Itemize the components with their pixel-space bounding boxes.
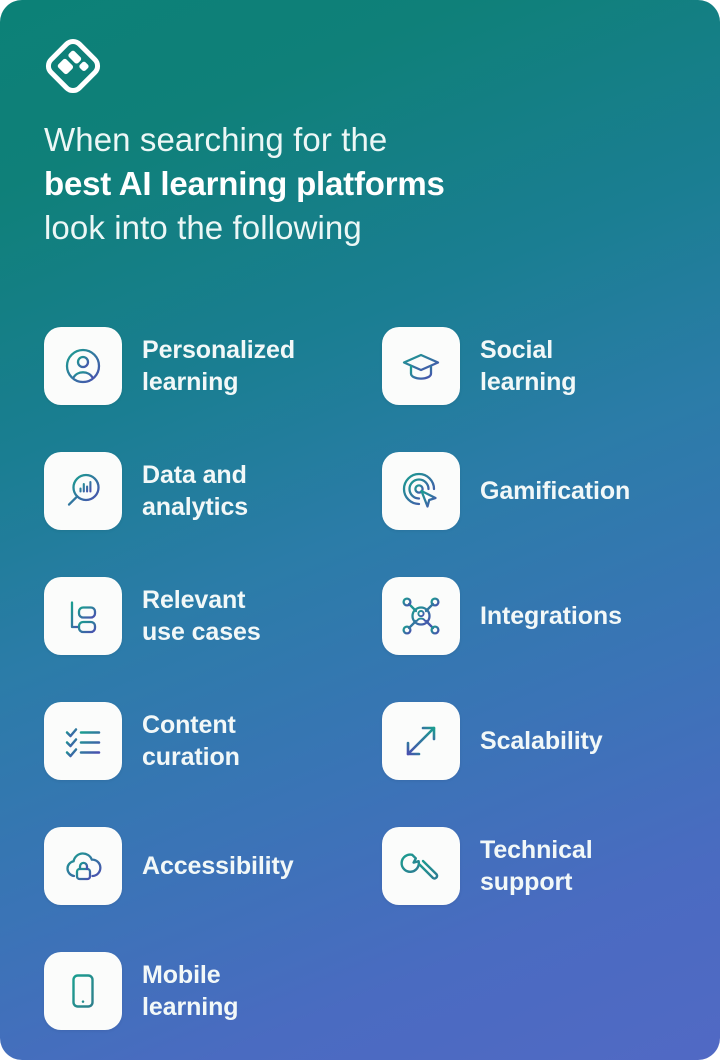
feature-label-line-1: Scalability [480,727,603,755]
heading-line-2: best AI learning platforms [44,162,664,206]
heading-line-1: When searching for the [44,118,664,162]
page-title: When searching for the best AI learning … [44,118,664,250]
feature-label: Integrations [480,600,622,632]
feature-icon-tile [382,702,460,780]
cloud-lock-icon [61,844,105,888]
expand-diagonal-arrows-icon [399,719,443,763]
feature-grid: Personalized learning Social learning [44,303,684,1053]
feature-label: Gamification [480,475,630,507]
feature-label-line-2: support [480,866,593,898]
user-circle-icon [61,344,105,388]
target-cursor-icon [399,469,443,513]
heading-line-3: look into the following [44,206,664,250]
feature-label: Content curation [142,709,240,773]
feature-item-social-learning[interactable]: Social learning [382,303,684,428]
feature-label-line-1: Data and [142,461,247,489]
feature-label: Mobile learning [142,959,238,1023]
feature-icon-tile [382,452,460,530]
feature-label-line-1: Mobile [142,961,221,989]
feature-label: Accessibility [142,850,294,882]
checklist-icon [61,719,105,763]
brand-logo [40,33,106,99]
feature-label: Social learning [480,334,576,398]
feature-icon-tile [44,327,122,405]
feature-item-relevant-use-cases[interactable]: Relevant use cases [44,553,382,678]
feature-icon-tile [382,827,460,905]
feature-item-data-and-analytics[interactable]: Data and analytics [44,428,382,553]
feature-label-line-1: Social [480,336,553,364]
smartphone-icon [61,969,105,1013]
feature-label-line-2: analytics [142,491,248,523]
feature-icon-tile [382,327,460,405]
infographic-card: When searching for the best AI learning … [0,0,720,1060]
feature-item-mobile-learning[interactable]: Mobile learning [44,928,382,1053]
feature-item-integrations[interactable]: Integrations [382,553,684,678]
feature-item-accessibility[interactable]: Accessibility [44,803,382,928]
feature-label: Scalability [480,725,603,757]
feature-item-content-curation[interactable]: Content curation [44,678,382,803]
feature-icon-tile [44,827,122,905]
feature-label: Technical support [480,834,593,898]
feature-icon-tile [44,452,122,530]
feature-item-scalability[interactable]: Scalability [382,678,684,803]
feature-label-line-1: Content [142,711,236,739]
wrench-icon [399,844,443,888]
feature-label-line-1: Personalized [142,336,295,364]
feature-icon-tile [382,577,460,655]
feature-label: Personalized learning [142,334,295,398]
feature-label-line-2: learning [480,366,576,398]
feature-label-line-1: Gamification [480,477,630,505]
feature-label: Data and analytics [142,459,248,523]
feature-label-line-1: Technical [480,836,593,864]
feature-label-line-1: Accessibility [142,852,294,880]
feature-item-personalized-learning[interactable]: Personalized learning [44,303,382,428]
feature-label-line-2: learning [142,991,238,1023]
feature-label-line-2: use cases [142,616,261,648]
feature-label-line-1: Integrations [480,602,622,630]
graduation-cap-icon [399,344,443,388]
network-hub-icon [399,594,443,638]
sitemap-hierarchy-icon [61,594,105,638]
magnifier-bar-chart-icon [61,469,105,513]
feature-item-gamification[interactable]: Gamification [382,428,684,553]
feature-label-line-1: Relevant [142,586,245,614]
feature-item-technical-support[interactable]: Technical support [382,803,684,928]
feature-label-line-2: curation [142,741,240,773]
feature-label-line-2: learning [142,366,295,398]
feature-icon-tile [44,952,122,1030]
feature-icon-tile [44,702,122,780]
feature-icon-tile [44,577,122,655]
squares-diamond-logo-icon [40,33,106,99]
feature-label: Relevant use cases [142,584,261,648]
